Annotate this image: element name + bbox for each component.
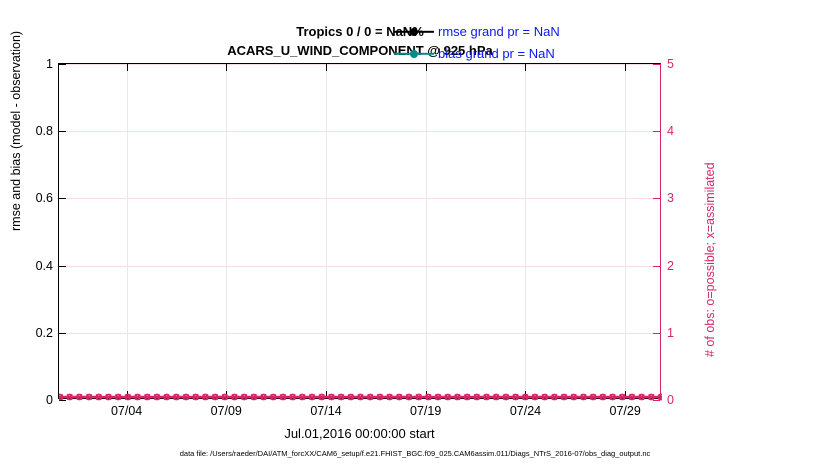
y-axis-right-tick-label: 5 <box>667 57 674 71</box>
legend-item-label: bias grand pr = NaN <box>438 46 555 61</box>
y-axis-right-tick-label: 3 <box>667 191 674 205</box>
gridline-horizontal <box>59 266 660 267</box>
y-axis-right-tick-label: 4 <box>667 124 674 138</box>
y-axis-left-tick-label: 0.8 <box>36 124 53 138</box>
gridline-vertical <box>226 64 227 398</box>
x-axis-tick <box>326 391 327 398</box>
x-axis-tick <box>127 391 128 398</box>
y-axis-left-tick <box>59 400 66 401</box>
gridline-horizontal <box>59 333 660 334</box>
gridline-vertical <box>525 64 526 398</box>
legend-item[interactable]: rmse grand pr = NaN <box>392 22 560 41</box>
gridline-vertical <box>127 64 128 398</box>
gridline-vertical <box>326 64 327 398</box>
chart-title-block: Tropics 0 / 0 = NaN% ACARS_U_WIND_COMPON… <box>0 22 720 60</box>
x-axis-tick-top <box>226 64 227 71</box>
data-file-caption: data file: /Users/raeder/DAI/ATM_forcXX/… <box>0 449 830 458</box>
x-axis-tick <box>625 391 626 398</box>
y-axis-left-tick <box>59 333 66 334</box>
plot-area: 00.20.40.60.81 012345 07/0407/0907/1407/… <box>58 63 661 399</box>
legend-marker-icon <box>392 47 436 61</box>
chart-subtitle: ACARS_U_WIND_COMPONENT @ 925 hPa <box>0 41 720 60</box>
y-axis-right-tick <box>653 198 660 199</box>
y-axis-left-tick-label: 0.4 <box>36 259 53 273</box>
page-title: Tropics 0 / 0 = NaN% <box>0 22 720 41</box>
x-axis-title: Jul.01,2016 00:00:00 start <box>58 426 661 441</box>
gridline-horizontal <box>59 198 660 199</box>
x-axis-tick <box>426 391 427 398</box>
y-axis-left-title: rmse and bias (model - observation) <box>9 31 23 231</box>
x-axis-tick-top <box>426 64 427 71</box>
legend-marker-icon <box>392 25 436 39</box>
x-axis-tick-top <box>625 64 626 71</box>
gridline-horizontal <box>59 131 660 132</box>
gridline-vertical <box>625 64 626 398</box>
y-axis-left-tick <box>59 64 66 65</box>
y-axis-left-tick-label: 1 <box>46 57 53 71</box>
y-axis-right-tick <box>653 266 660 267</box>
y-axis-left-tick-label: 0.6 <box>36 191 53 205</box>
gridline-vertical <box>426 64 427 398</box>
x-axis-tick-top <box>127 64 128 71</box>
legend-item[interactable]: bias grand pr = NaN <box>392 44 560 63</box>
gridline-horizontal <box>59 64 660 65</box>
x-axis-tick <box>226 391 227 398</box>
legend-item-label: rmse grand pr = NaN <box>438 24 560 39</box>
x-axis-tick-label: 07/09 <box>211 404 242 418</box>
y-axis-right-tick <box>653 64 660 65</box>
x-axis-tick-label: 07/14 <box>310 404 341 418</box>
x-axis-tick-top <box>326 64 327 71</box>
y-axis-left-tick-label: 0 <box>46 393 53 407</box>
y-axis-right-tick <box>653 333 660 334</box>
y-axis-left-tick <box>59 266 66 267</box>
x-axis-tick <box>525 391 526 398</box>
x-axis-tick-label: 07/24 <box>510 404 541 418</box>
y-axis-left-tick <box>59 131 66 132</box>
y-axis-right-title: # of obs: o=possible; x=assimilated <box>703 162 717 357</box>
x-axis-tick-label: 07/04 <box>111 404 142 418</box>
y-axis-right-tick-label: 2 <box>667 259 674 273</box>
chart-legend: rmse grand pr = NaNbias grand pr = NaN <box>392 22 560 63</box>
y-axis-right-tick-label: 1 <box>667 326 674 340</box>
y-axis-left-tick <box>59 198 66 199</box>
x-axis-tick-label: 07/29 <box>610 404 641 418</box>
y-axis-right-tick <box>653 400 660 401</box>
y-axis-right-tick-label: 0 <box>667 393 674 407</box>
x-axis-tick-top <box>525 64 526 71</box>
x-axis-tick-label: 07/19 <box>410 404 441 418</box>
obs-count-marker-series <box>59 392 660 403</box>
y-axis-right-tick <box>653 131 660 132</box>
y-axis-left-tick-label: 0.2 <box>36 326 53 340</box>
